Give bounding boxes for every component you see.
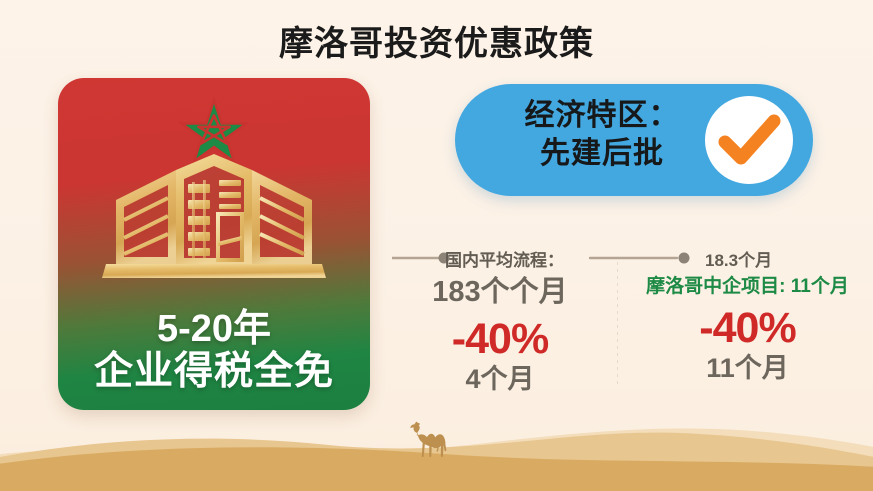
special-economic-zone-pill: 经济特区： 先建后批 — [455, 84, 813, 196]
card-subheadline: 企业得税全免 — [58, 350, 370, 394]
check-mark-icon — [705, 96, 793, 184]
pill-line-1: 经济特区： — [489, 97, 715, 135]
timeline-label-months: 18.3个月 — [705, 246, 772, 271]
morocco-tax-incentive-card: 5-20年 企业得税全免 — [58, 78, 370, 410]
stat-domestic-percent: -40% — [390, 317, 610, 362]
stat-morocco-subtitle: 摩洛哥中企项目: 11个月 — [625, 277, 870, 298]
infographic-canvas: 摩洛哥投资优惠政策 — [0, 0, 873, 491]
stat-block-morocco: 摩洛哥中企项目: 11个月 -40% 11个月 — [625, 277, 870, 384]
card-text-block: 5-20年 企业得税全免 — [58, 308, 370, 394]
pill-line-2: 先建后批 — [489, 135, 715, 173]
pill-text-block: 经济特区： 先建后批 — [489, 97, 715, 174]
office-building-icon — [80, 92, 348, 300]
stat-block-domestic: 183个个月 -40% 4个月 — [390, 277, 610, 395]
morocco-pentagram-star-icon — [182, 100, 247, 162]
stat-morocco-result: 11个月 — [625, 354, 870, 384]
column-divider — [617, 262, 618, 384]
timeline-label-domestic: 国内平均流程： — [445, 246, 564, 271]
card-headline: 5-20年 — [58, 308, 370, 351]
camel-silhouette-icon — [397, 413, 457, 467]
page-title: 摩洛哥投资优惠政策 — [0, 16, 873, 65]
stat-domestic-result: 4个月 — [390, 365, 610, 395]
stat-domestic-total: 183个个月 — [390, 277, 610, 309]
stat-morocco-percent: -40% — [625, 306, 870, 351]
